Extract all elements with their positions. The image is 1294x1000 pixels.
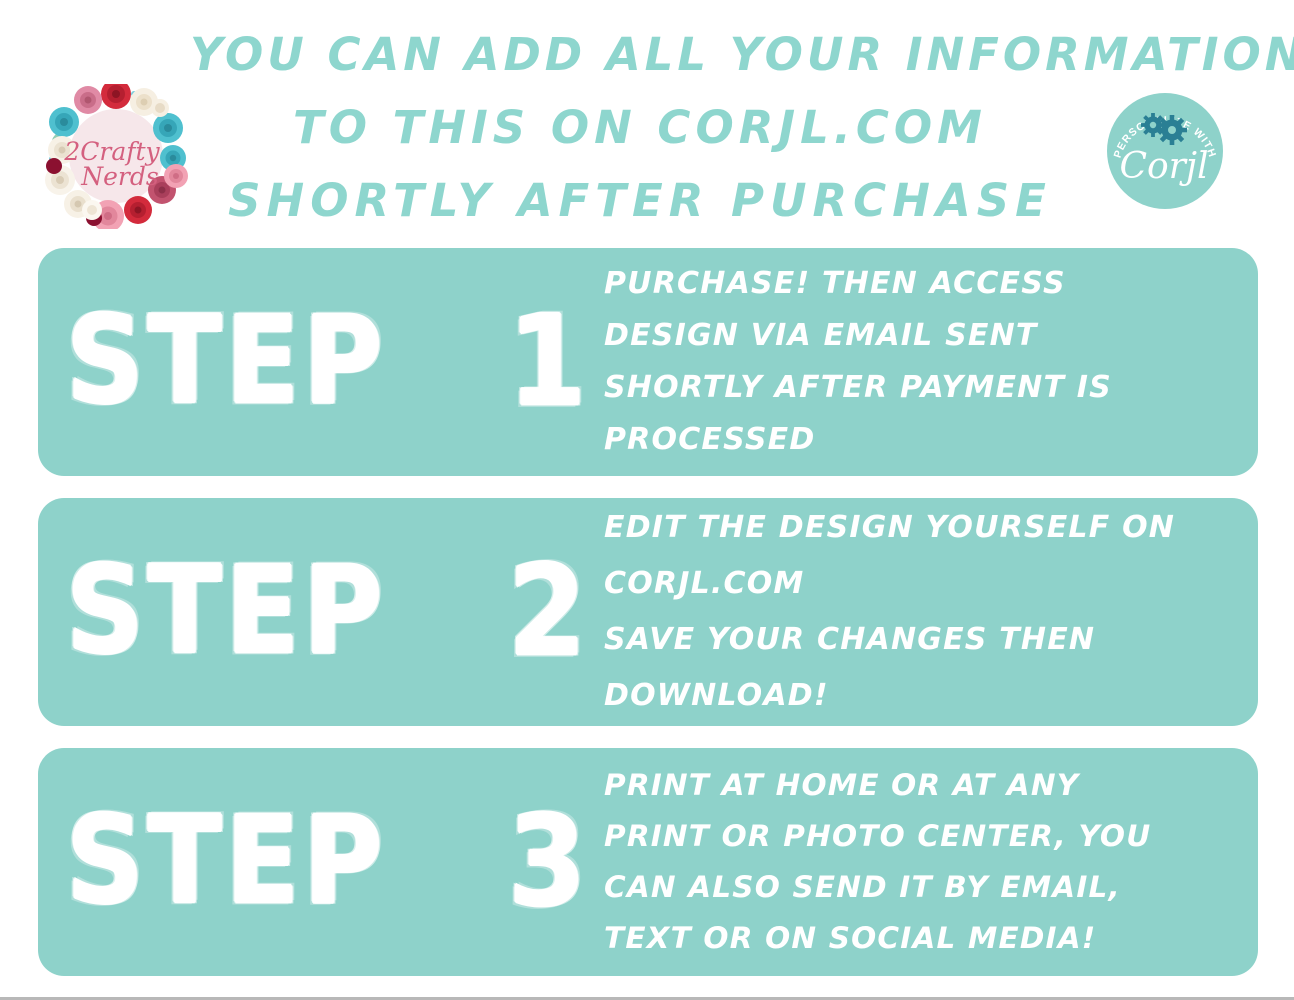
headline-line-1: YOU CAN ADD ALL YOUR INFORMATION: [190, 18, 1090, 91]
step-3-line-2: PRINT OR PHOTO CENTER, YOU: [604, 811, 1240, 862]
step-card-3: STEP 3 PRINT AT HOME OR AT ANY PRINT OR …: [38, 748, 1258, 976]
step-1-line-4: PROCESSED: [604, 414, 1240, 466]
step-2-line-2: CORJL.COM: [604, 556, 1240, 612]
step-3-line-1: PRINT AT HOME OR AT ANY: [604, 760, 1240, 811]
step-3-description: PRINT AT HOME OR AT ANY PRINT OR PHOTO C…: [598, 760, 1258, 964]
step-1-heading: STEP 1: [38, 248, 598, 476]
step-1-word: STEP: [66, 302, 386, 423]
step-1-line-3: SHORTLY AFTER PAYMENT IS: [604, 362, 1240, 414]
steps-list: STEP 1 PURCHASE! THEN ACCESS DESIGN VIA …: [38, 248, 1258, 998]
step-1-description: PURCHASE! THEN ACCESS DESIGN VIA EMAIL S…: [598, 258, 1258, 466]
step-2-word: STEP: [66, 552, 386, 673]
step-1-line-1: PURCHASE! THEN ACCESS: [604, 258, 1240, 310]
instruction-graphic: 2Crafty Nerds YOU CAN ADD ALL YOUR INFOR…: [0, 0, 1294, 1000]
step-3-line-4: TEXT OR ON SOCIAL MEDIA!: [604, 913, 1240, 964]
header: 2Crafty Nerds YOU CAN ADD ALL YOUR INFOR…: [0, 0, 1294, 240]
step-card-1: STEP 1 PURCHASE! THEN ACCESS DESIGN VIA …: [38, 248, 1258, 476]
step-3-number: 3: [508, 799, 586, 924]
personalize-with-corjl-badge: PERSONALIZE WITH: [1104, 90, 1226, 212]
headline-line-3: SHORTLY AFTER PURCHASE: [190, 164, 1090, 237]
headline-line-2: TO THIS ON CORJL.COM: [190, 91, 1090, 164]
headline: YOU CAN ADD ALL YOUR INFORMATION TO THIS…: [190, 18, 1090, 237]
step-1-line-2: DESIGN VIA EMAIL SENT: [604, 310, 1240, 362]
step-2-line-1: EDIT THE DESIGN YOURSELF ON: [604, 500, 1240, 556]
logo-text-line2: Nerds: [80, 162, 158, 191]
step-2-line-4: DOWNLOAD!: [604, 668, 1240, 724]
step-card-2: STEP 2 EDIT THE DESIGN YOURSELF ON CORJL…: [38, 498, 1258, 726]
step-2-number: 2: [508, 549, 586, 674]
corjl-wordmark: Corjl: [1119, 146, 1208, 187]
step-3-heading: STEP 3: [38, 748, 598, 976]
step-1-number: 1: [508, 299, 586, 424]
step-3-line-3: CAN ALSO SEND IT BY EMAIL,: [604, 862, 1240, 913]
step-3-word: STEP: [66, 802, 386, 923]
step-2-heading: STEP 2: [38, 498, 598, 726]
step-2-description: EDIT THE DESIGN YOURSELF ON CORJL.COM SA…: [598, 500, 1258, 724]
step-2-line-3: SAVE YOUR CHANGES THEN: [604, 612, 1240, 668]
brand-logo-floral-wreath: 2Crafty Nerds: [42, 84, 190, 229]
